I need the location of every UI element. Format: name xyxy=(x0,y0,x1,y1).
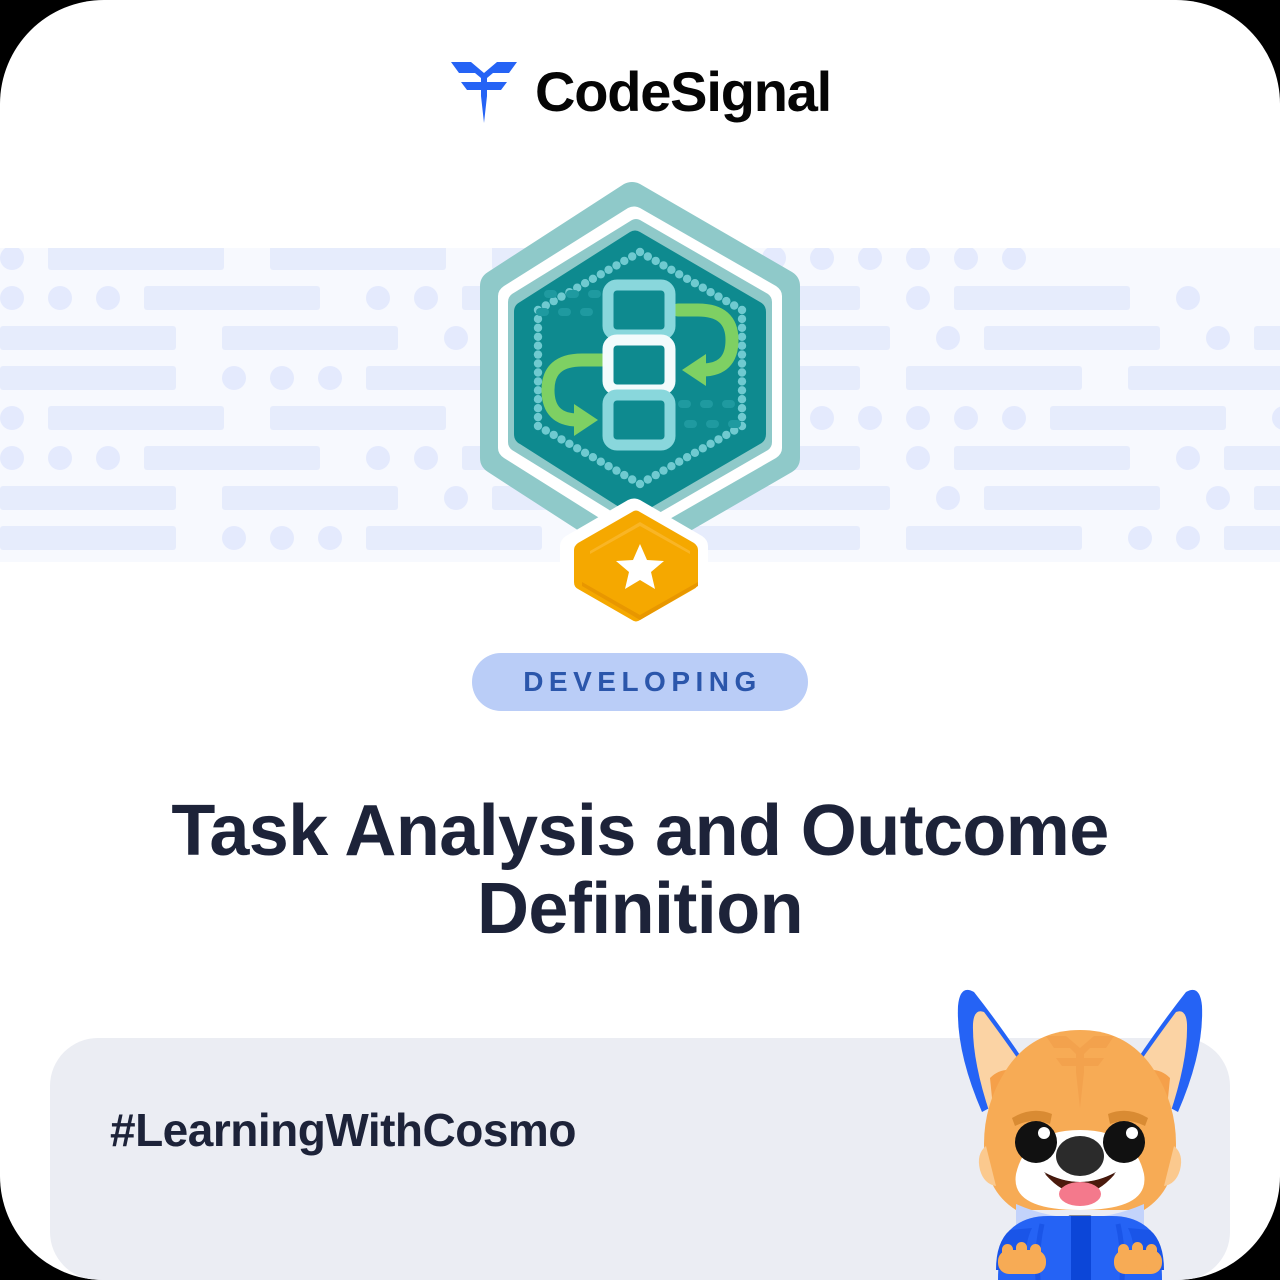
codesignal-logo-icon xyxy=(449,59,519,125)
certificate-card: CodeSignal xyxy=(0,0,1280,1280)
cosmo-paw-right xyxy=(1114,1242,1162,1274)
cosmo-nose xyxy=(1056,1136,1104,1176)
hashtag-label: #LearningWithCosmo xyxy=(110,1107,576,1153)
cosmo-eye-right xyxy=(1103,1121,1145,1163)
cosmo-eye-left xyxy=(1015,1121,1057,1163)
achievement-badge xyxy=(440,182,840,632)
course-title: Task Analysis and Outcome Definition xyxy=(110,792,1170,949)
cosmo-shirt-placket xyxy=(1071,1216,1091,1280)
cosmo-eye-left-highlight xyxy=(1038,1127,1050,1139)
cosmo-tongue xyxy=(1059,1182,1101,1206)
codesignal-wordmark: CodeSignal xyxy=(535,64,831,120)
cosmo-corgi-mascot xyxy=(938,978,1238,1280)
cosmo-eye-right-highlight xyxy=(1126,1127,1138,1139)
cosmo-paw-left xyxy=(998,1242,1046,1274)
level-badge-wrapper: DEVELOPING xyxy=(0,653,1280,711)
codesignal-logo: CodeSignal xyxy=(0,52,1280,132)
level-badge: DEVELOPING xyxy=(472,653,808,711)
